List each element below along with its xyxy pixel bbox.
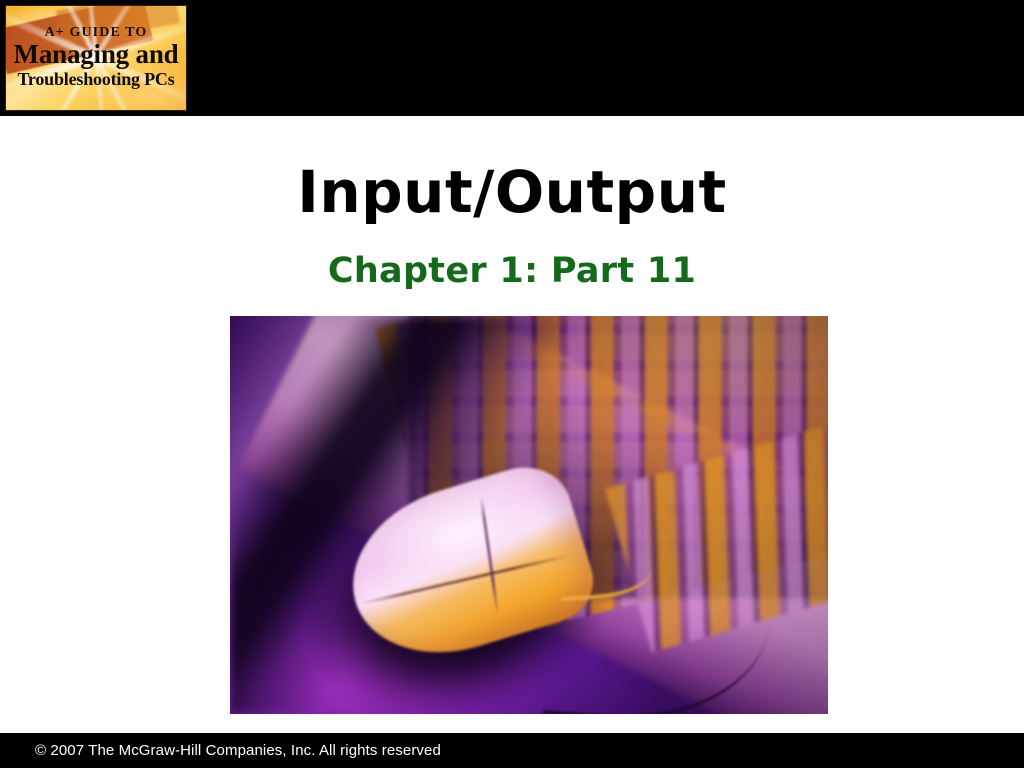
page-title: Input/Output — [0, 162, 1024, 223]
footer-band: © 2007 The McGraw-Hill Companies, Inc. A… — [0, 733, 1024, 768]
logo-series-label: A+ GUIDE TO — [45, 26, 148, 40]
slide-body: Input/Output Chapter 1: Part 11 — [0, 116, 1024, 733]
logo-title-line-2: Troubleshooting PCs — [17, 69, 174, 90]
copyright-notice: © 2007 The McGraw-Hill Companies, Inc. A… — [35, 742, 441, 759]
page-subtitle: Chapter 1: Part 11 — [0, 253, 1024, 290]
book-cover-logo: A+ GUIDE TO Managing and Troubleshooting… — [5, 5, 187, 111]
photo-vignette — [230, 316, 828, 714]
logo-title-line-1: Managing and — [14, 41, 179, 69]
hero-photo — [230, 316, 828, 714]
logo-text-group: A+ GUIDE TO Managing and Troubleshooting… — [6, 6, 186, 110]
